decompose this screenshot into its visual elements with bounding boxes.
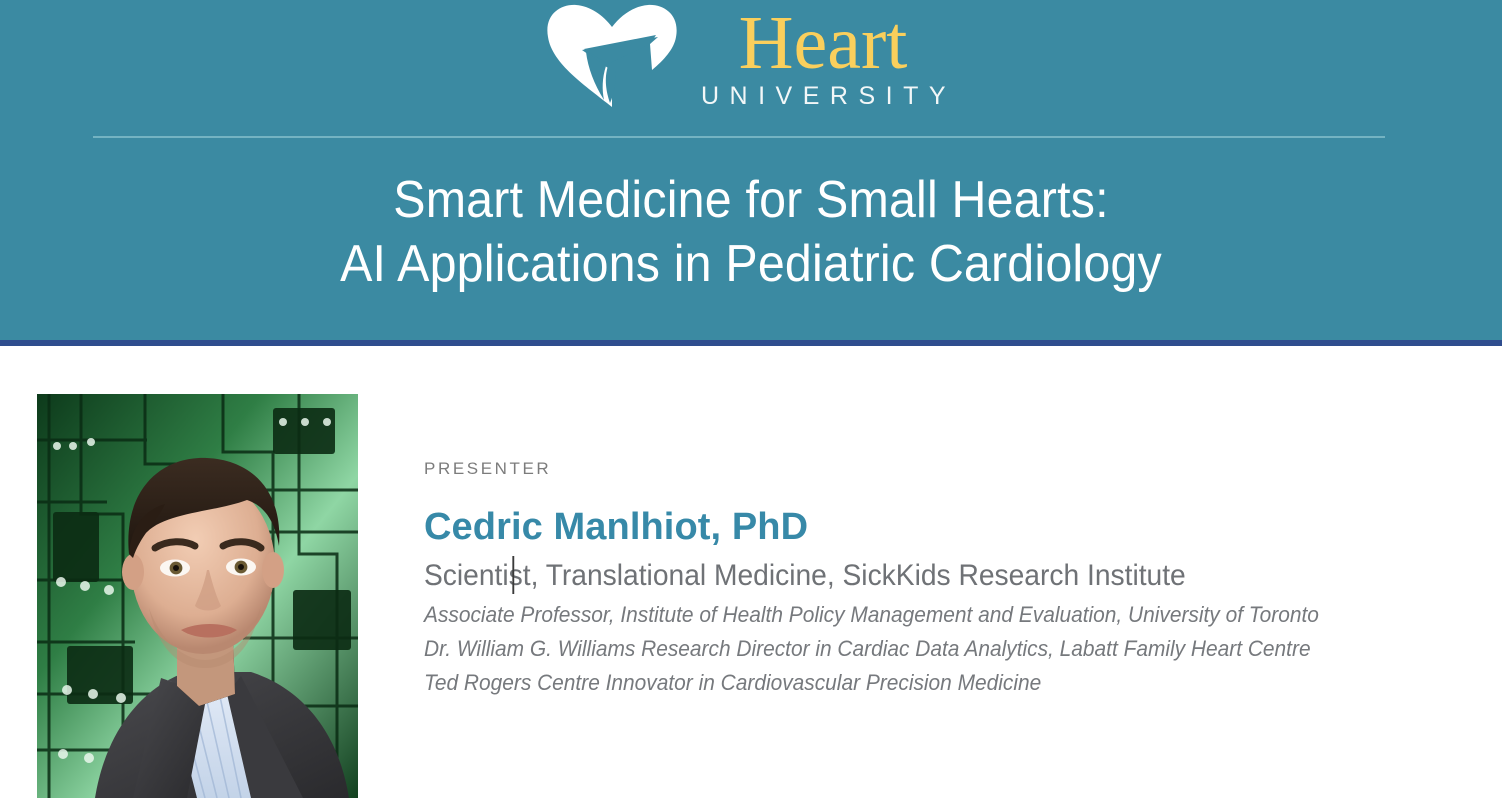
brand-logo-lockup[interactable]: Heart UNIVERSITY [0,4,1502,116]
header-divider [93,136,1385,138]
brand-name-heart: Heart [739,6,908,80]
presenter-role-text: Scientist, Translational Medicine, SickK… [424,559,1186,592]
presenter-headshot-photo [37,394,358,798]
header-banner: Heart UNIVERSITY Smart Medicine for Smal… [0,0,1502,346]
presenter-affiliations: Associate Professor, Institute of Health… [424,598,1422,700]
brand-name-university: UNIVERSITY [690,81,956,111]
brand-wordmark: Heart UNIVERSITY [690,4,956,111]
page-title-line-2: AI Applications in Pediatric Cardiology [53,232,1450,296]
presenter-affiliation-3: Ted Rogers Centre Innovator in Cardiovas… [424,666,1422,700]
page-title-line-1: Smart Medicine for Small Hearts: [53,168,1450,232]
presenter-name: Cedric Manlhiot, PhD [424,504,1474,550]
content-area: PRESENTER Cedric Manlhiot, PhD Scientist… [0,346,1502,798]
text-cursor-caret [512,556,514,594]
presenter-affiliation-2: Dr. William G. Williams Research Directo… [424,632,1422,666]
presenter-details: PRESENTER Cedric Manlhiot, PhD Scientist… [424,458,1474,700]
heart-logo-icon [546,4,678,108]
presenter-label: PRESENTER [424,458,1474,480]
presenter-affiliation-1: Associate Professor, Institute of Health… [424,598,1422,632]
page-title: Smart Medicine for Small Hearts: AI Appl… [53,168,1450,296]
presenter-role[interactable]: Scientist, Translational Medicine, SickK… [424,556,1411,596]
